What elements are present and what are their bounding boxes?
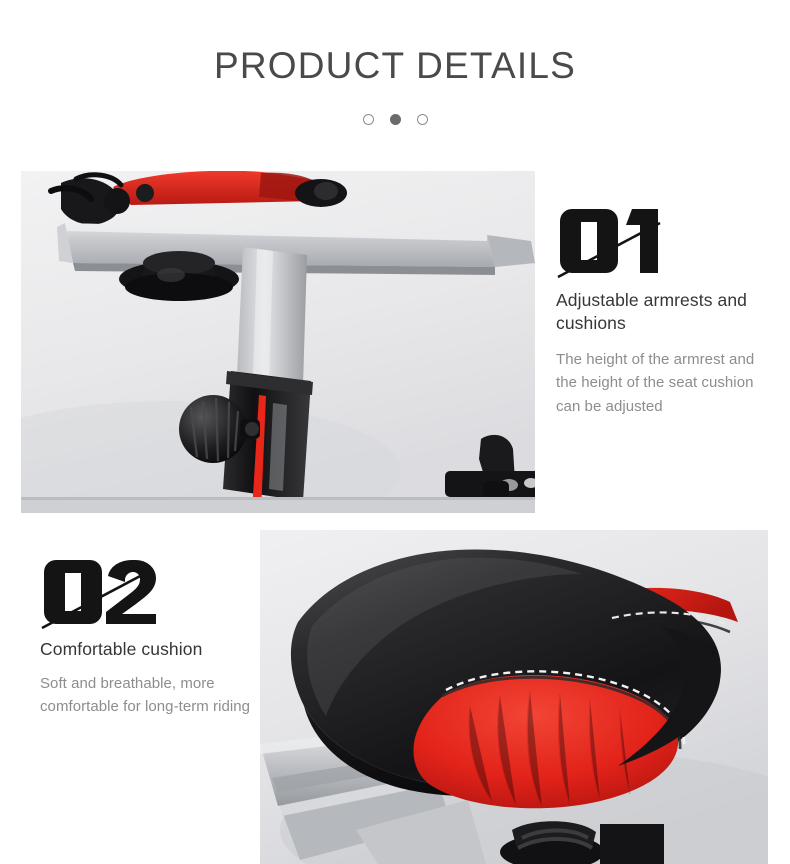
feature-description-02: Soft and breathable, more comfortable fo… [40, 672, 272, 719]
pagination-dot-1[interactable] [363, 114, 374, 125]
feature-title-02: Comfortable cushion [40, 638, 272, 661]
page-title: PRODUCT DETAILS [0, 45, 790, 87]
feature-number-02 [40, 556, 190, 632]
feature-title-01: Adjustable armrests and cushions [556, 289, 771, 335]
feature-block-01: Adjustable armrests and cushions The hei… [556, 205, 771, 418]
armrest-adjustment-photo [21, 171, 535, 513]
feature-number-01 [556, 205, 706, 281]
pagination-dot-3[interactable] [417, 114, 428, 125]
carousel-pagination[interactable] [0, 114, 790, 125]
feature-description-01: The height of the armrest and the height… [556, 348, 771, 418]
saddle-cushion-photo [260, 530, 768, 864]
pagination-dot-2-active[interactable] [390, 114, 401, 125]
feature-block-02: Comfortable cushion Soft and breathable,… [40, 556, 272, 719]
